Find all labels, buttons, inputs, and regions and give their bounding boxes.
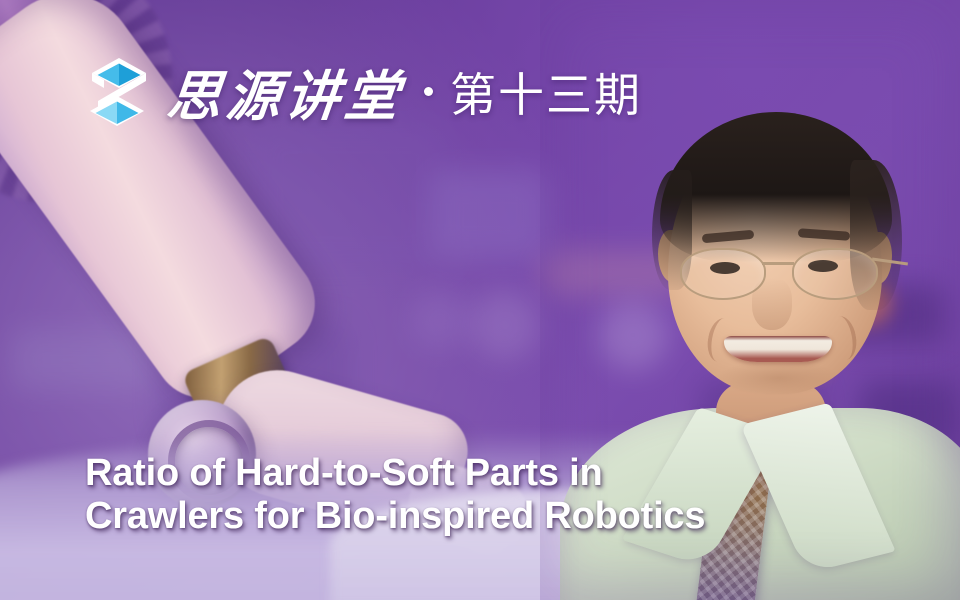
lecture-title: Ratio of Hard-to-Soft Parts in Crawlers … <box>85 452 825 538</box>
speaker-mouth <box>724 336 832 362</box>
siyuan-s-cube-logo-icon <box>86 54 150 130</box>
brand-text: 思源讲堂 第十三期 <box>168 52 642 131</box>
bokeh-shape <box>430 170 550 260</box>
issue-number: 第十三期 <box>450 59 642 125</box>
title-line-1: Ratio of Hard-to-Soft Parts in <box>85 452 825 495</box>
poster-banner: 思源讲堂 第十三期 Ratio of Hard-to-Soft Parts in… <box>0 0 960 600</box>
glasses-lens-right <box>792 248 878 300</box>
speaker-chin-shading <box>716 360 840 396</box>
brand-header: 思源讲堂 第十三期 <box>86 52 642 131</box>
series-name: 思源讲堂 <box>164 52 408 131</box>
separator-dot <box>424 87 433 96</box>
glasses-bridge <box>762 262 794 265</box>
title-line-2: Crawlers for Bio-inspired Robotics <box>85 495 825 538</box>
bokeh-shape <box>470 290 540 360</box>
speaker-nose <box>752 278 792 330</box>
